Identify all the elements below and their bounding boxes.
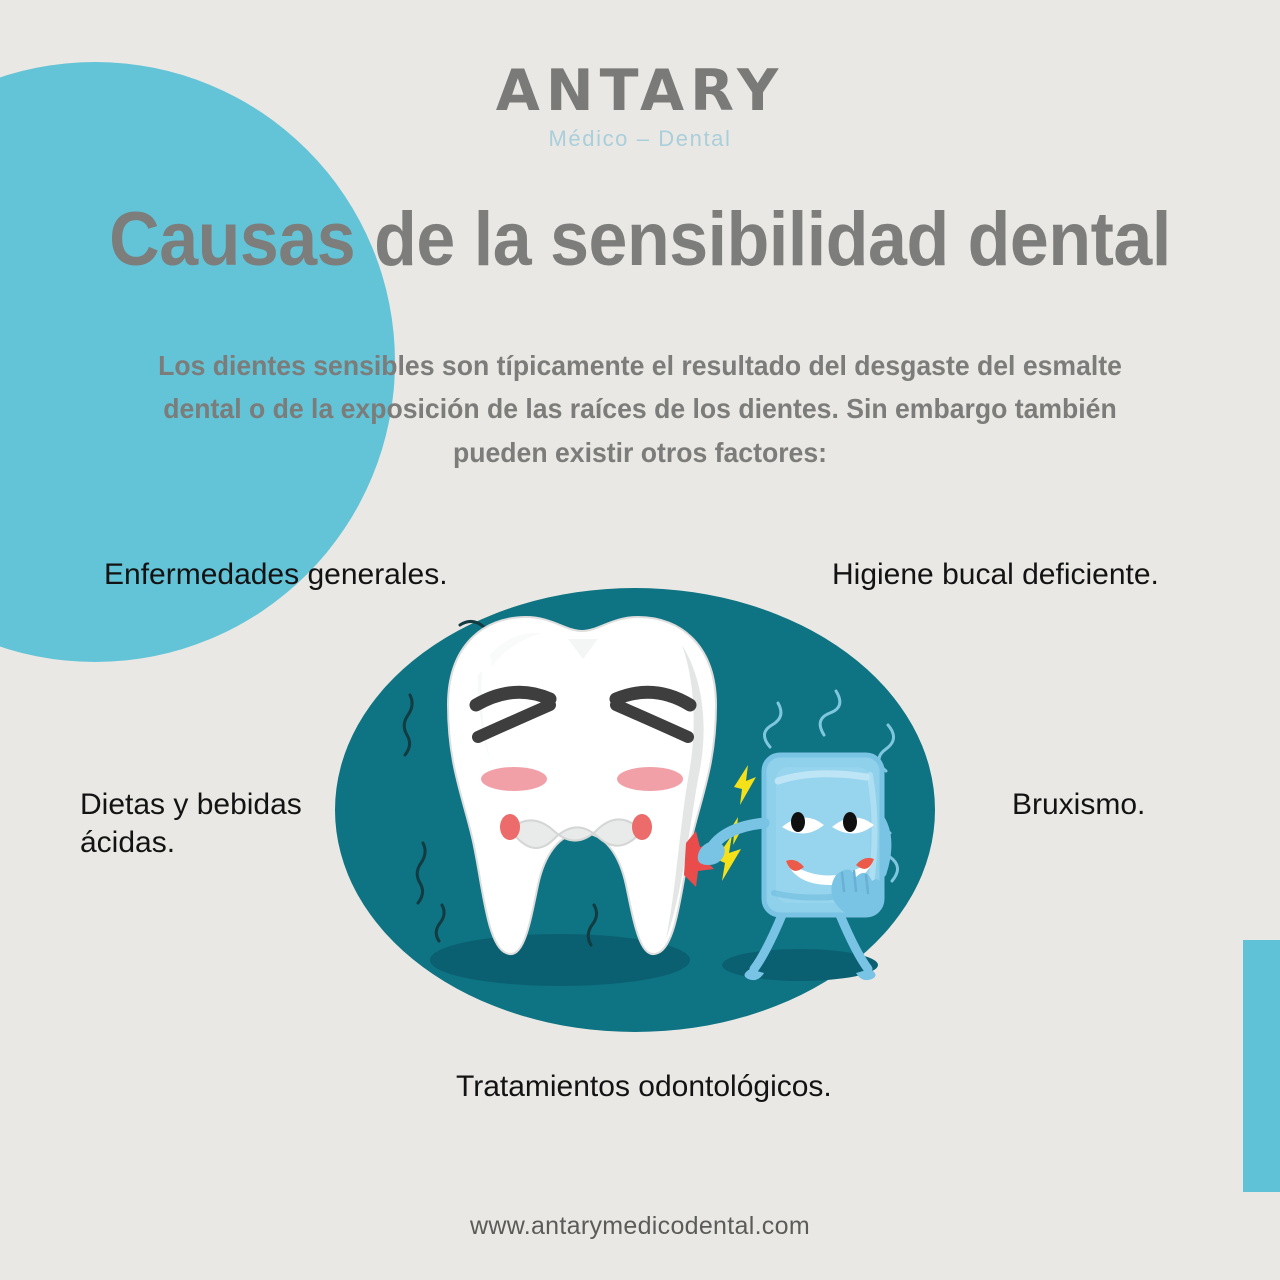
tooth-illustration-svg [330,575,940,1045]
page-title: Causas de la sensibilidad dental [51,196,1229,283]
cause-label-bruxismo: Bruxismo. [1012,786,1145,824]
brand-subtitle: Médico – Dental [0,126,1280,152]
infographic-poster: ANTARY Médico – Dental Causas de la sens… [0,0,1280,1280]
cause-label-tratamientos-odontologicos: Tratamientos odontológicos. [456,1068,832,1106]
cause-label-higiene-bucal-deficiente: Higiene bucal deficiente. [832,556,1159,594]
intro-paragraph: Los dientes sensibles son típicamente el… [144,344,1136,474]
footer-website-url[interactable]: www.antarymedicodental.com [0,1212,1280,1241]
pupil-left [791,812,805,832]
mouth-corner-right [632,814,652,840]
cause-label-enfermedades-generales: Enfermedades generales. [104,556,448,594]
cheek-right [617,767,683,791]
brand-logo: ANTARY Médico – Dental [0,62,1280,152]
brand-name: ANTARY [0,62,1280,122]
mouth-corner-left [500,814,520,840]
cause-label-dietas-bebidas-acidas: Dietas y bebidas ácidas. [80,786,340,863]
pupil-right [843,812,857,832]
decorative-rectangle-teal [1243,940,1280,1192]
cheek-left [481,767,547,791]
tooth-illustration [330,575,940,1045]
